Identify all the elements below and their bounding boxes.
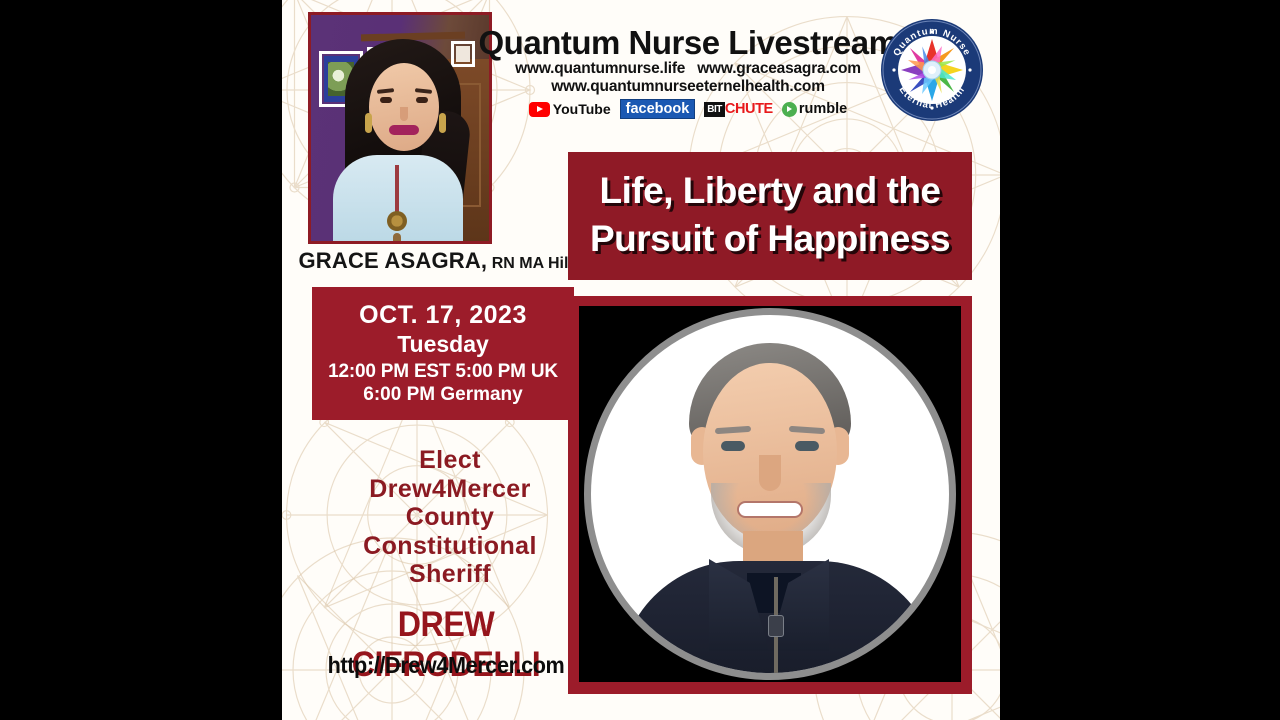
- schedule-box: OCT. 17, 2023 Tuesday 12:00 PM EST 5:00 …: [312, 287, 574, 420]
- episode-title-line-1: Life, Liberty and the: [568, 170, 972, 212]
- bitchute-label: CHUTE: [725, 101, 773, 117]
- guest-smile: [737, 501, 803, 518]
- host-name-text: GRACE ASAGRA,: [298, 248, 487, 273]
- poster-stage: GRACE ASAGRA, RN MA Hilot OCT. 17, 2023 …: [0, 0, 1280, 720]
- facebook-label: facebook: [620, 99, 696, 119]
- youtube-badge[interactable]: YouTube: [529, 100, 611, 118]
- brand-urls: www.quantumnurse.lifewww.graceasagra.com…: [478, 60, 898, 96]
- brand-url-eternelhealth[interactable]: www.quantumnurseeternelhealth.com: [478, 78, 898, 96]
- schedule-date: OCT. 17, 2023: [312, 301, 574, 330]
- host-eye-right: [416, 97, 428, 103]
- host-name: GRACE ASAGRA, RN MA Hilot: [296, 248, 586, 274]
- campaign-slogan-line-1: Elect: [310, 446, 590, 475]
- rumble-icon: [782, 102, 797, 117]
- bitchute-icon: BIT: [704, 102, 725, 117]
- episode-title-panel: Life, Liberty and the Pursuit of Happine…: [568, 152, 972, 280]
- brand-url-quantumnurse[interactable]: www.quantumnurse.life: [515, 60, 685, 77]
- host-pendant: [387, 211, 407, 231]
- poster-canvas: GRACE ASAGRA, RN MA Hilot OCT. 17, 2023 …: [282, 0, 1000, 720]
- candidate-website-link[interactable]: http://Drew4Mercer.com: [309, 652, 583, 679]
- host-earring-left: [365, 113, 372, 133]
- quantum-nurse-seal-logo: Quantum Nurse Eternal Health: [880, 18, 984, 122]
- host-eye-left: [380, 97, 392, 103]
- bitchute-badge[interactable]: BIT CHUTE: [704, 100, 773, 118]
- host-earring-right: [439, 113, 446, 133]
- host-nose: [400, 107, 408, 121]
- rumble-badge[interactable]: rumble: [782, 100, 847, 118]
- youtube-label: YouTube: [553, 101, 611, 117]
- guest-headshot-photo: [584, 308, 956, 680]
- photo-wall-frame-3: [451, 41, 475, 67]
- youtube-icon: [529, 102, 550, 117]
- page-title: Quantum Nurse Livestream: [478, 24, 898, 62]
- rumble-label: rumble: [799, 101, 847, 117]
- schedule-times-secondary: 6:00 PM Germany: [312, 384, 574, 406]
- social-badges: YouTube facebook BIT CHUTE rumble: [478, 100, 898, 118]
- brand-url-graceasagra[interactable]: www.graceasagra.com: [697, 60, 861, 77]
- host-necklace-beads: [393, 233, 401, 244]
- campaign-slogan-line-4: Constitutional: [310, 532, 590, 561]
- schedule-times-primary: 12:00 PM EST 5:00 PM UK: [312, 361, 574, 383]
- guest-zipper-pull: [768, 615, 784, 637]
- guest-photo-card: [568, 296, 972, 694]
- facebook-badge[interactable]: facebook: [620, 100, 696, 118]
- campaign-slogan-line-5: Sheriff: [310, 560, 590, 589]
- schedule-day: Tuesday: [312, 331, 574, 358]
- episode-title-line-2: Pursuit of Happiness: [568, 218, 972, 260]
- brand-urls-row-1: www.quantumnurse.lifewww.graceasagra.com: [478, 60, 898, 78]
- guest-photo-backdrop: [579, 306, 961, 682]
- guest-eye-right: [795, 441, 819, 451]
- campaign-slogan-line-3: County: [310, 503, 590, 532]
- campaign-slogan: Elect Drew4Mercer County Constitutional …: [310, 446, 590, 589]
- guest-eye-left: [721, 441, 745, 451]
- host-headshot-photo: [308, 12, 492, 244]
- campaign-slogan-line-2: Drew4Mercer: [310, 475, 590, 504]
- host-necklace: [395, 165, 399, 213]
- host-lips: [389, 125, 419, 135]
